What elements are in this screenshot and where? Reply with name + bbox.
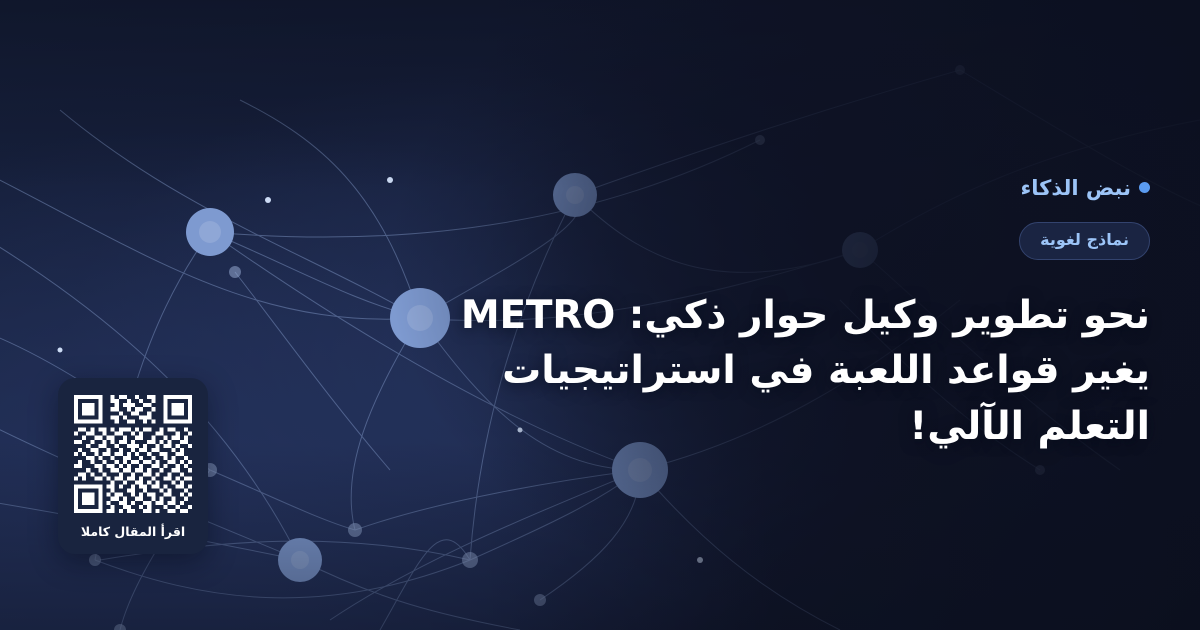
brand: نبض الذكاء bbox=[1021, 176, 1150, 200]
content-block: نبض الذكاء نماذج لغوية نحو تطوير وكيل حو… bbox=[440, 0, 1200, 630]
bullet-dot-icon bbox=[1139, 182, 1150, 193]
qr-caption: اقرأ المقال كاملا bbox=[81, 526, 185, 539]
qr-card[interactable]: اقرأ المقال كاملا bbox=[58, 378, 208, 554]
qr-code-icon bbox=[74, 395, 192, 513]
social-share-card: اقرأ المقال كاملا نبض الذكاء نماذج لغوية… bbox=[0, 0, 1200, 630]
category-tag[interactable]: نماذج لغوية bbox=[1019, 222, 1150, 260]
brand-name: نبض الذكاء bbox=[1021, 176, 1131, 200]
headline: نحو تطوير وكيل حوار ذكي: METRO يغير قواع… bbox=[440, 288, 1150, 454]
